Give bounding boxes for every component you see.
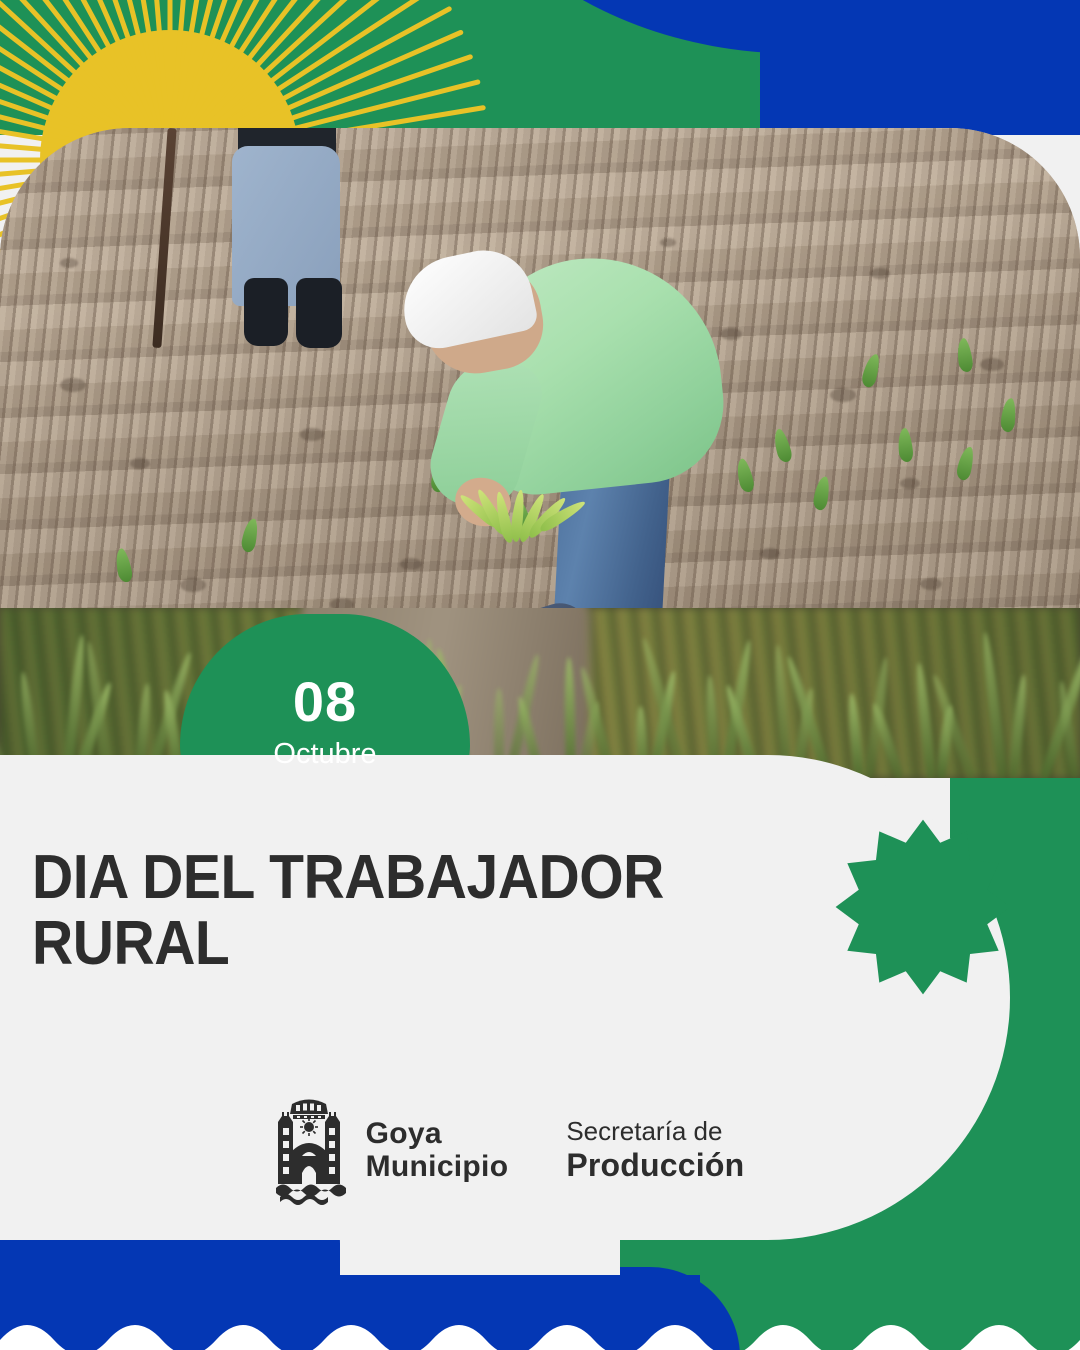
soil-clod — [60, 258, 78, 268]
goya-line-2: Municipio — [366, 1150, 509, 1183]
goya-municipio-logo: Goya Municipio — [266, 1094, 509, 1206]
soil-clod — [300, 428, 324, 441]
wave-scallop-icon — [0, 1288, 1080, 1350]
goya-line-1: Goya — [366, 1117, 509, 1150]
date-badge: 08 Octubre — [180, 614, 470, 829]
poster-canvas: 08 Octubre DIA DEL TRABAJADOR RURAL — [0, 0, 1080, 1350]
soil-clod — [760, 548, 780, 559]
soil-clod — [180, 578, 206, 592]
child-boot-right — [296, 278, 342, 348]
logo-row: Goya Municipio Secretaría de Producción — [0, 1080, 1010, 1220]
page-title-line-1: DIA DEL TRABAJADOR — [32, 845, 759, 911]
secondary-photo-strip — [0, 608, 1080, 778]
date-day: 08 — [293, 674, 357, 730]
child-boot-left — [244, 278, 288, 346]
soil-clod — [830, 388, 856, 402]
goya-church-crest-icon — [266, 1094, 352, 1206]
soil-clod — [720, 328, 742, 340]
soil-clod — [130, 458, 150, 469]
page-title-line-2: RURAL — [32, 911, 759, 977]
goya-municipio-wordmark: Goya Municipio — [366, 1117, 509, 1183]
main-photo — [0, 128, 1080, 608]
header-blue-fill — [760, 0, 1080, 135]
soil-clod — [920, 578, 942, 590]
soil-clod — [980, 358, 1004, 371]
soil-clod — [870, 268, 890, 279]
soil-clod — [400, 558, 422, 570]
date-month: Octubre — [273, 740, 376, 769]
soil-clod — [60, 378, 86, 392]
starburst-badge-icon — [828, 812, 1018, 1002]
seedlings-in-hand — [455, 490, 605, 546]
page-title: DIA DEL TRABAJADOR RURAL — [32, 845, 759, 976]
soil-clod — [660, 238, 676, 247]
secretaria-produccion-logo: Secretaría de Producción — [566, 1117, 744, 1184]
secretaria-line-1: Secretaría de — [566, 1117, 744, 1147]
header-color-band — [0, 0, 1080, 135]
soil-clod — [330, 598, 354, 608]
secretaria-line-2: Producción — [566, 1147, 744, 1184]
soil-clod — [900, 478, 920, 489]
